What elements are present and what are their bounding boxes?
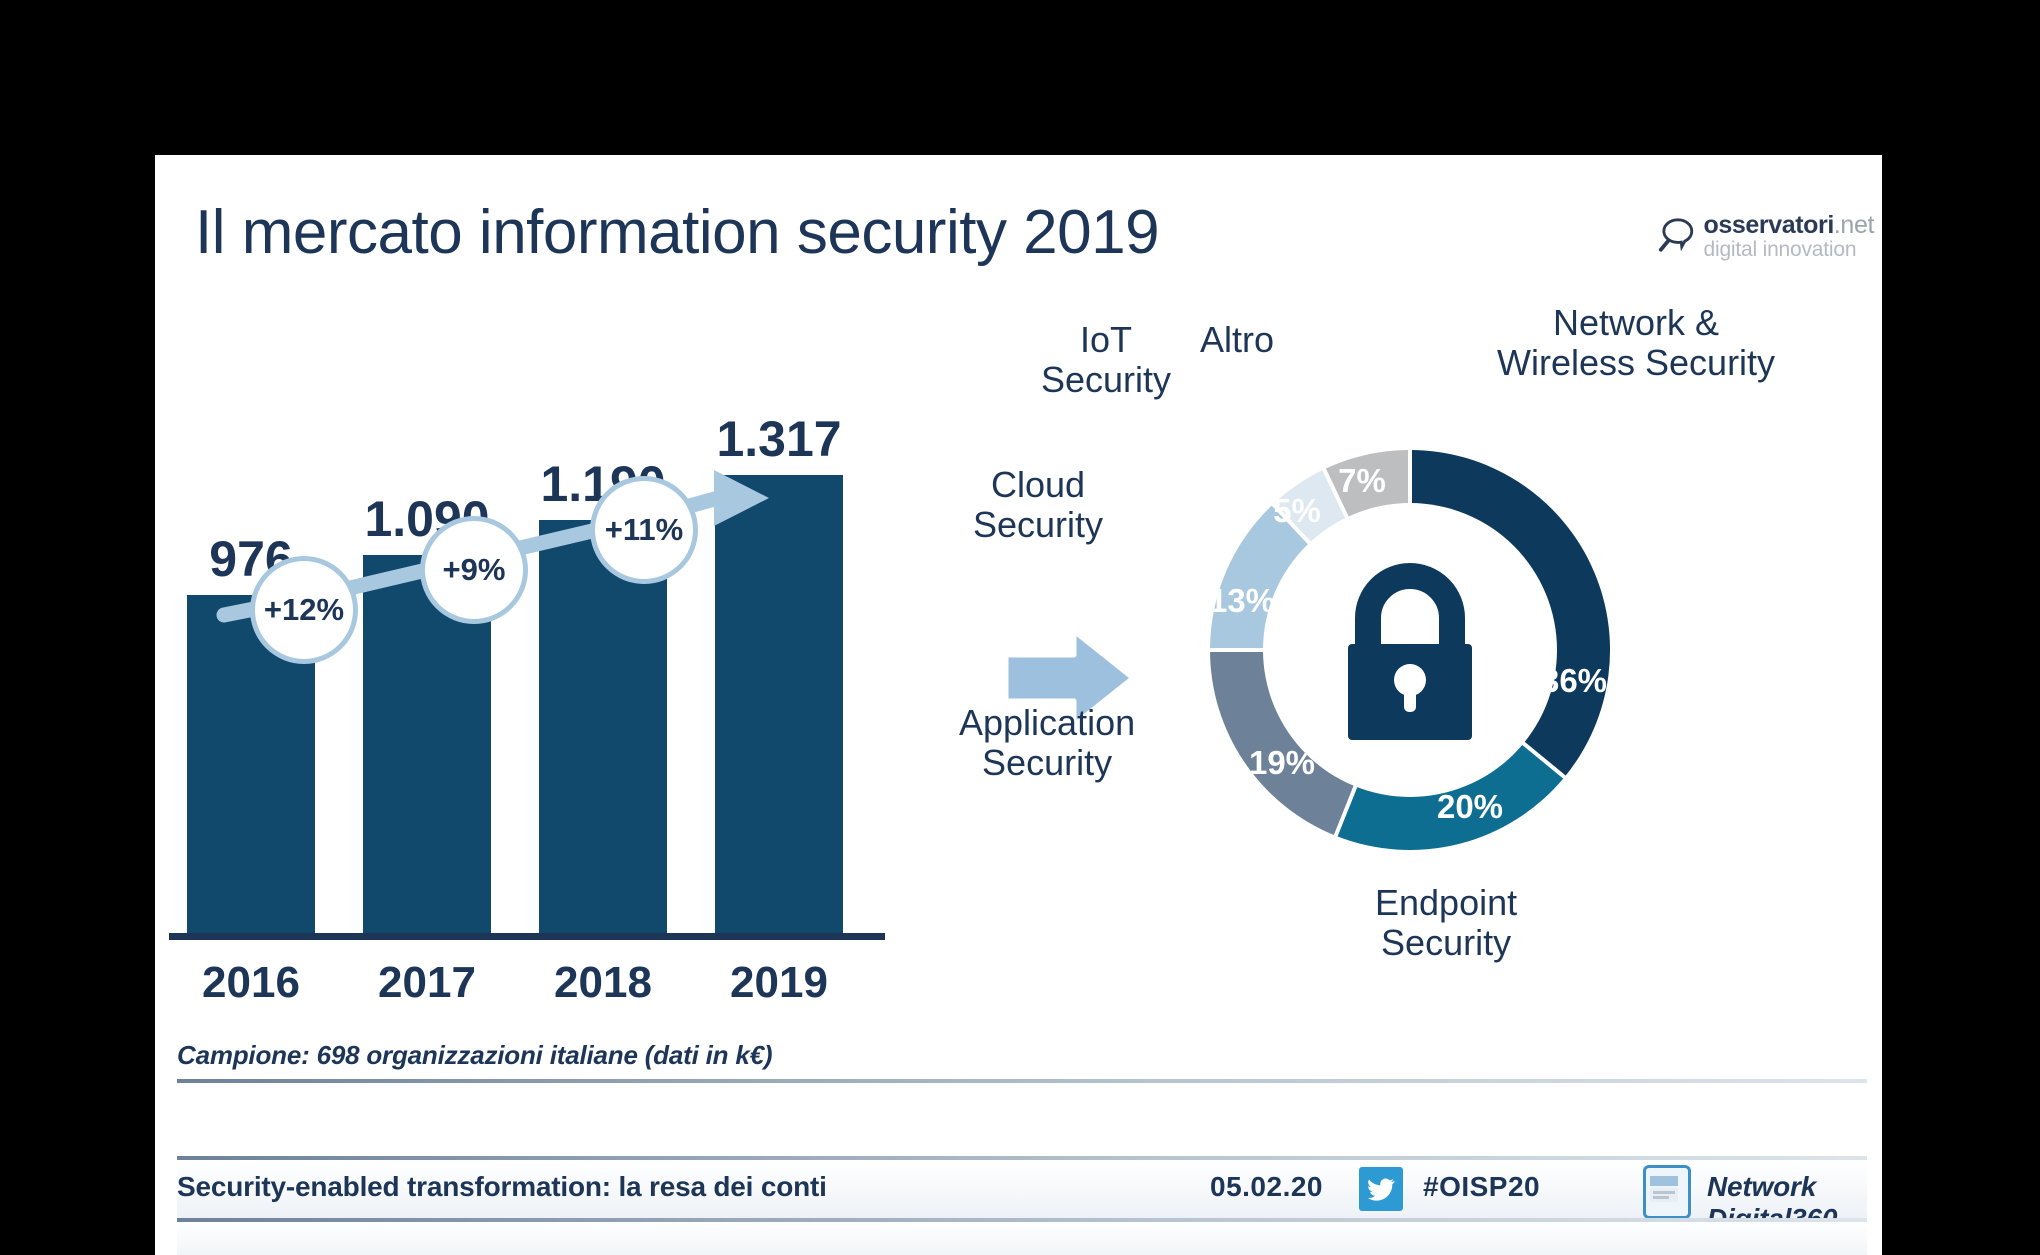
footer-fade [177, 1222, 1867, 1255]
twitter-icon[interactable] [1359, 1167, 1403, 1211]
x-tick-2018: 2018 [539, 958, 667, 1008]
divider-middle [177, 1156, 1867, 1160]
footer-hashtag: #OISP20 [1423, 1171, 1540, 1203]
growth-badge-2017: +12% [250, 556, 358, 664]
bar-rect [715, 475, 843, 940]
bar-value-label: 1.317 [716, 410, 841, 468]
twitter-bird-glyph [1359, 1167, 1403, 1211]
page-title: Il mercato information security 2019 [195, 197, 1159, 268]
donut-label-network-wireless: Network &Wireless Security [1497, 303, 1775, 384]
sample-note: Campione: 698 organizzazioni italiane (d… [177, 1040, 772, 1071]
logo-tagline: digital innovation [1704, 239, 1875, 260]
magnifier-speech-bubble-icon [1657, 217, 1695, 255]
x-axis-line [169, 933, 885, 940]
slice-pct-cloud: 13% [1209, 582, 1275, 619]
slice-pct-altro: 7% [1338, 462, 1386, 499]
slice-pct-iot: 5% [1273, 492, 1321, 529]
x-axis-labels: 2016 2017 2018 2019 [169, 958, 885, 1018]
slice-pct-application: 19% [1249, 744, 1315, 781]
donut-chart: 36% 20% 19% 13% 5% 7% Network &W [945, 265, 1875, 1025]
x-tick-2017: 2017 [363, 958, 491, 1008]
calendar-icon[interactable] [1643, 1165, 1691, 1219]
bar-2019: 1.317 [715, 475, 843, 940]
calendar-glyph [1646, 1168, 1682, 1210]
donut-label-altro: Altro [1200, 320, 1274, 360]
x-tick-2016: 2016 [187, 958, 315, 1008]
growth-badge-2018: +9% [420, 516, 528, 624]
screenshot-frame: Il mercato information security 2019 oss… [0, 0, 2040, 1200]
donut-label-cloud: CloudSecurity [973, 465, 1103, 546]
logo-suffix: .net [1834, 211, 1874, 239]
footer-date: 05.02.20 [1210, 1171, 1323, 1203]
x-tick-2019: 2019 [715, 958, 843, 1008]
bar-chart: 976 1.090 1.190 1.317 2016 [169, 370, 959, 1010]
growth-badge-2019: +11% [590, 476, 698, 584]
divider-top [177, 1079, 1867, 1083]
donut-label-iot: IoTSecurity [1041, 320, 1171, 401]
slice-pct-network: 36% [1541, 662, 1607, 699]
donut-label-endpoint: EndpointSecurity [1375, 883, 1517, 964]
osservatori-logo: osservatori.net digital innovation [1657, 213, 1875, 260]
logo-name: osservatori [1704, 211, 1834, 239]
presentation-slide: Il mercato information security 2019 oss… [155, 155, 1882, 1255]
footer-title: Security-enabled transformation: la resa… [177, 1171, 827, 1203]
slice-pct-endpoint: 20% [1437, 788, 1503, 825]
donut-label-application: ApplicationSecurity [959, 703, 1135, 784]
